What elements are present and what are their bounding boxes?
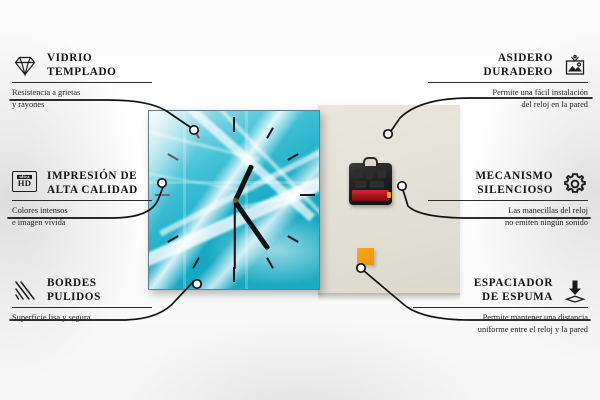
gear-icon	[562, 171, 588, 197]
feature-title-line1: VIDRIO	[47, 52, 116, 66]
feature-rule	[413, 307, 588, 308]
feature-rule	[12, 200, 152, 201]
feature-title-line2: ALTA CALIDAD	[47, 184, 138, 198]
feature-title-line2: SILENCIOSO	[476, 184, 554, 198]
feature-title-line2: DURADERO	[484, 66, 553, 80]
feature-desc-line2: del reloj en la pared	[428, 99, 588, 110]
clock-tick	[192, 127, 200, 138]
clock-center-cap	[233, 198, 238, 203]
feature-asidero-duradero: ASIDERO DURADERO Permite una fácil insta…	[428, 52, 588, 110]
feature-title-line2: TEMPLADO	[47, 66, 116, 80]
clock-tick	[233, 117, 235, 132]
foam-spacer	[357, 248, 374, 265]
feature-desc-line2: e imagen vívida	[12, 217, 152, 228]
feature-title-line2: DE ESPUMA	[474, 291, 553, 305]
clock-tick	[167, 153, 178, 161]
feature-desc-line2: uniforme entre el reloj y la pared	[413, 324, 588, 335]
feature-espaciador-de-espuma: ESPACIADOR DE ESPUMA Permite mantener un…	[413, 277, 588, 335]
wall-clock	[148, 110, 320, 290]
clock-second-hand	[234, 201, 236, 269]
feature-bordes-pulidos: BORDES PULIDOS Superficie lisa y segura	[12, 277, 152, 324]
feature-rule	[12, 82, 152, 83]
feature-desc-line1: Las manecillas del reloj	[428, 205, 588, 216]
clock-tick	[233, 267, 235, 282]
picture-frame-hanger-icon	[562, 53, 588, 79]
clock-tick	[266, 127, 274, 138]
feature-title-line2: PULIDOS	[47, 291, 101, 305]
feature-title-line1: MECANISMO	[476, 170, 554, 184]
down-arrow-layer-icon	[562, 278, 588, 304]
feature-desc-line1: Colores intensos	[12, 205, 152, 216]
feature-impresion-alta-calidad: ultra HD IMPRESIÓN DE ALTA CALIDAD Color…	[12, 170, 152, 228]
feature-desc-line1: Resistencia a grietas	[12, 87, 152, 98]
feature-title-line1: ASIDERO	[484, 52, 553, 66]
clock-battery	[352, 190, 389, 201]
ultra-hd-icon: ultra HD	[12, 171, 38, 197]
clock-tick	[155, 194, 170, 196]
diagonal-lines-icon	[12, 278, 38, 304]
feature-title-line1: BORDES	[47, 277, 101, 291]
feature-desc-line2: y rayones	[12, 99, 152, 110]
feature-desc-line1: Permite mantener una distancia	[413, 312, 588, 323]
clock-tick	[266, 257, 274, 268]
diamond-icon	[12, 53, 38, 79]
feature-rule	[428, 200, 588, 201]
feature-rule	[12, 307, 152, 308]
feature-title-line1: ESPACIADOR	[474, 277, 553, 291]
feature-desc-line2: no emiten ningún sonido	[428, 217, 588, 228]
clock-tick	[192, 257, 200, 268]
ultra-hd-icon-bottom-text: HD	[18, 179, 32, 188]
feature-vidrio-templado: VIDRIO TEMPLADO Resistencia a grietas y …	[12, 52, 152, 110]
mechanism-hanger-hook	[363, 157, 378, 166]
clock-tick	[287, 235, 298, 243]
feature-title-line1: IMPRESIÓN DE	[47, 170, 138, 184]
feature-desc-line1: Superficie lisa y segura	[12, 312, 152, 323]
feature-rule	[428, 82, 588, 83]
infographic-stage: VIDRIO TEMPLADO Resistencia a grietas y …	[0, 0, 600, 400]
clock-tick	[300, 194, 315, 196]
product-photo	[130, 100, 330, 300]
feature-desc-line1: Permite una fácil instalación	[428, 87, 588, 98]
clock-mechanism	[349, 163, 392, 205]
feature-mecanismo-silencioso: MECANISMO SILENCIOSO Las manecillas del …	[428, 170, 588, 228]
